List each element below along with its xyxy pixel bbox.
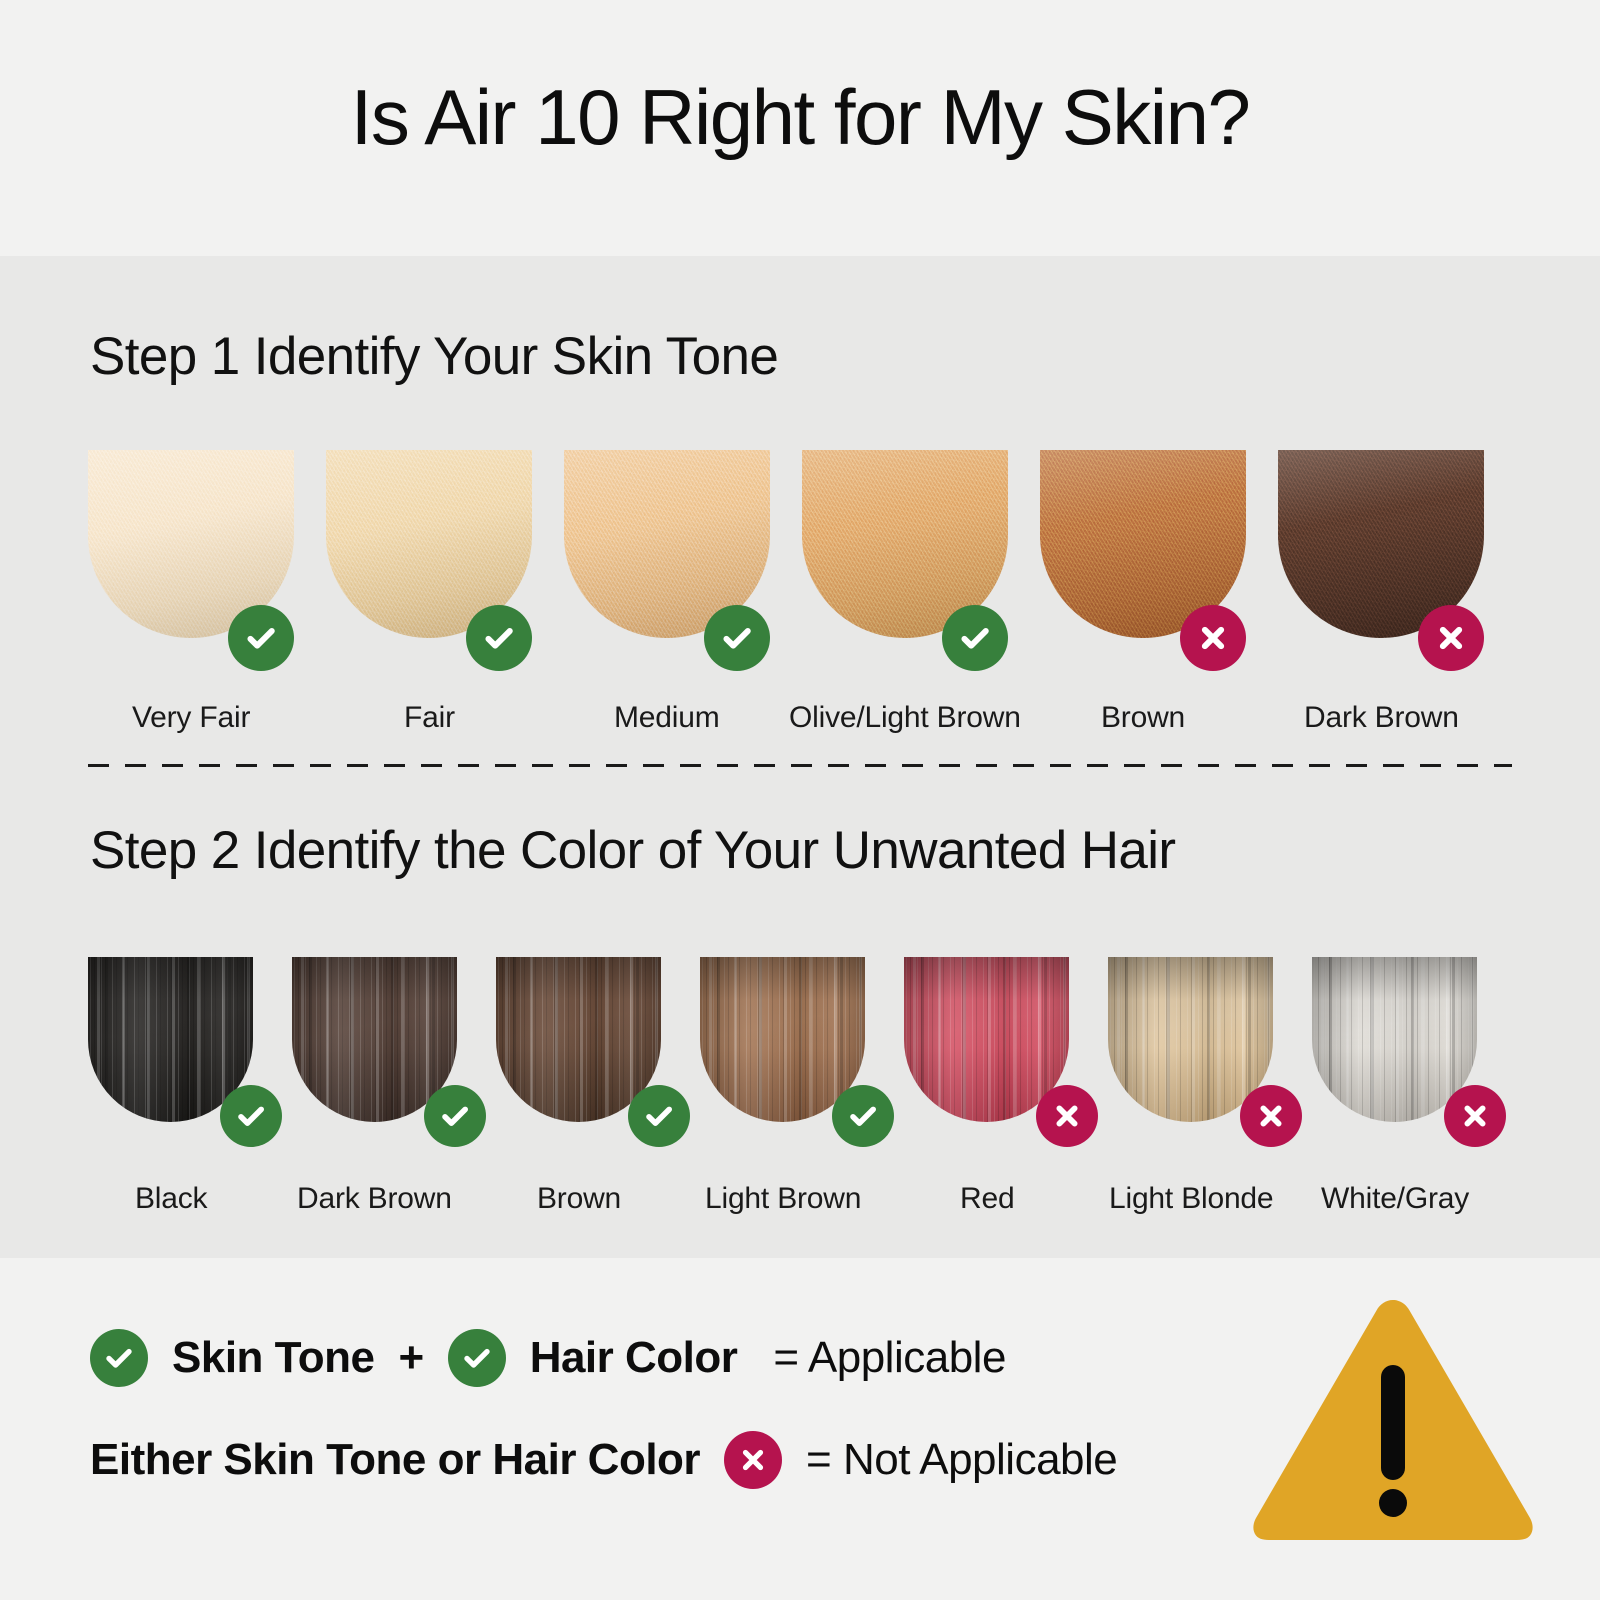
legend-not-applicable-result: = Not Applicable	[806, 1435, 1117, 1485]
check-icon	[448, 1329, 506, 1387]
legend-applicable-result: = Applicable	[773, 1333, 1006, 1383]
check-icon	[628, 1085, 690, 1147]
hair-color-item[interactable]: Brown	[496, 957, 661, 1122]
swatch-label: Very Fair	[132, 703, 250, 733]
hair-color-item[interactable]: Black	[88, 957, 253, 1122]
swatch-label: White/Gray	[1321, 1184, 1469, 1214]
hair-color-item[interactable]: Light Brown	[700, 957, 865, 1122]
check-icon	[424, 1085, 486, 1147]
skin-tone-item[interactable]: Dark Brown	[1278, 450, 1484, 638]
hair-color-item[interactable]: Red	[904, 957, 1069, 1122]
legend-line-applicable: Skin Tone + Hair Color = Applicable	[90, 1318, 1270, 1398]
infographic-page: Is Air 10 Right for My Skin? Step 1 Iden…	[0, 0, 1600, 1600]
warning-triangle-icon	[1248, 1290, 1538, 1540]
step1-heading: Step 1 Identify Your Skin Tone	[90, 330, 778, 383]
step2-heading: Step 2 Identify the Color of Your Unwant…	[90, 824, 1175, 877]
skin-tone-item[interactable]: Olive/Light Brown	[802, 450, 1008, 638]
skin-tone-item[interactable]: Medium	[564, 450, 770, 638]
cross-icon	[1418, 605, 1484, 671]
legend: Skin Tone + Hair Color = Applicable Eith…	[90, 1318, 1270, 1500]
cross-icon	[1444, 1085, 1506, 1147]
skin-tone-item[interactable]: Brown	[1040, 450, 1246, 638]
hair-color-item[interactable]: White/Gray	[1312, 957, 1477, 1122]
legend-either-label: Either Skin Tone or Hair Color	[90, 1435, 700, 1485]
hair-color-row: BlackDark BrownBrownLight BrownRedLight …	[0, 957, 1600, 1187]
check-icon	[466, 605, 532, 671]
swatch-label: Medium	[614, 703, 720, 733]
skin-tone-item[interactable]: Very Fair	[88, 450, 294, 638]
skin-tone-row: Very FairFairMediumOlive/Light BrownBrow…	[0, 450, 1600, 690]
page-title: Is Air 10 Right for My Skin?	[0, 78, 1600, 156]
cross-icon	[1240, 1085, 1302, 1147]
cross-icon	[1036, 1085, 1098, 1147]
swatch-label: Light Brown	[705, 1184, 861, 1214]
swatch-label: Black	[135, 1184, 207, 1214]
cross-icon	[1180, 605, 1246, 671]
hair-color-item[interactable]: Dark Brown	[292, 957, 457, 1122]
legend-skin-tone-label: Skin Tone	[172, 1333, 374, 1383]
check-icon	[228, 605, 294, 671]
swatch-label: Brown	[537, 1184, 621, 1214]
check-icon	[704, 605, 770, 671]
swatch-label: Dark Brown	[297, 1184, 452, 1214]
skin-tone-item[interactable]: Fair	[326, 450, 532, 638]
legend-line-not-applicable: Either Skin Tone or Hair Color = Not App…	[90, 1420, 1270, 1500]
legend-plus-sign: +	[398, 1333, 423, 1383]
swatch-label: Brown	[1101, 703, 1185, 733]
section-divider	[88, 764, 1512, 767]
check-icon	[832, 1085, 894, 1147]
hair-color-item[interactable]: Light Blonde	[1108, 957, 1273, 1122]
swatch-label: Dark Brown	[1304, 703, 1459, 733]
swatch-label: Fair	[404, 703, 455, 733]
swatch-label: Red	[960, 1184, 1014, 1214]
check-icon	[220, 1085, 282, 1147]
check-icon	[90, 1329, 148, 1387]
check-icon	[942, 605, 1008, 671]
cross-icon	[724, 1431, 782, 1489]
legend-hair-color-label: Hair Color	[530, 1333, 738, 1383]
swatch-label: Olive/Light Brown	[789, 703, 1021, 733]
swatch-label: Light Blonde	[1109, 1184, 1273, 1214]
